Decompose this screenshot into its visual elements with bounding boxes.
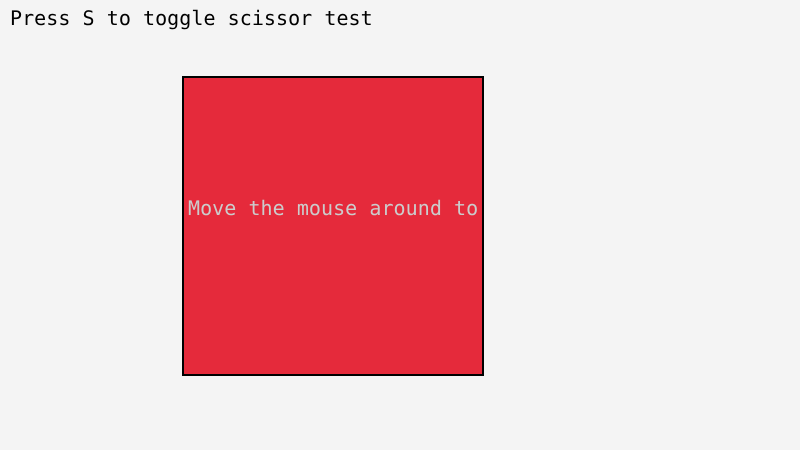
demo-canvas[interactable]: Press S to toggle scissor test Move the … — [0, 0, 800, 450]
hint-text: Press S to toggle scissor test — [10, 5, 373, 31]
scissor-message-text: Move the mouse around to resize the scis… — [188, 196, 482, 220]
scissor-rectangle[interactable]: Move the mouse around to resize the scis… — [182, 76, 484, 376]
scissor-clip-region: Move the mouse around to resize the scis… — [184, 78, 482, 374]
